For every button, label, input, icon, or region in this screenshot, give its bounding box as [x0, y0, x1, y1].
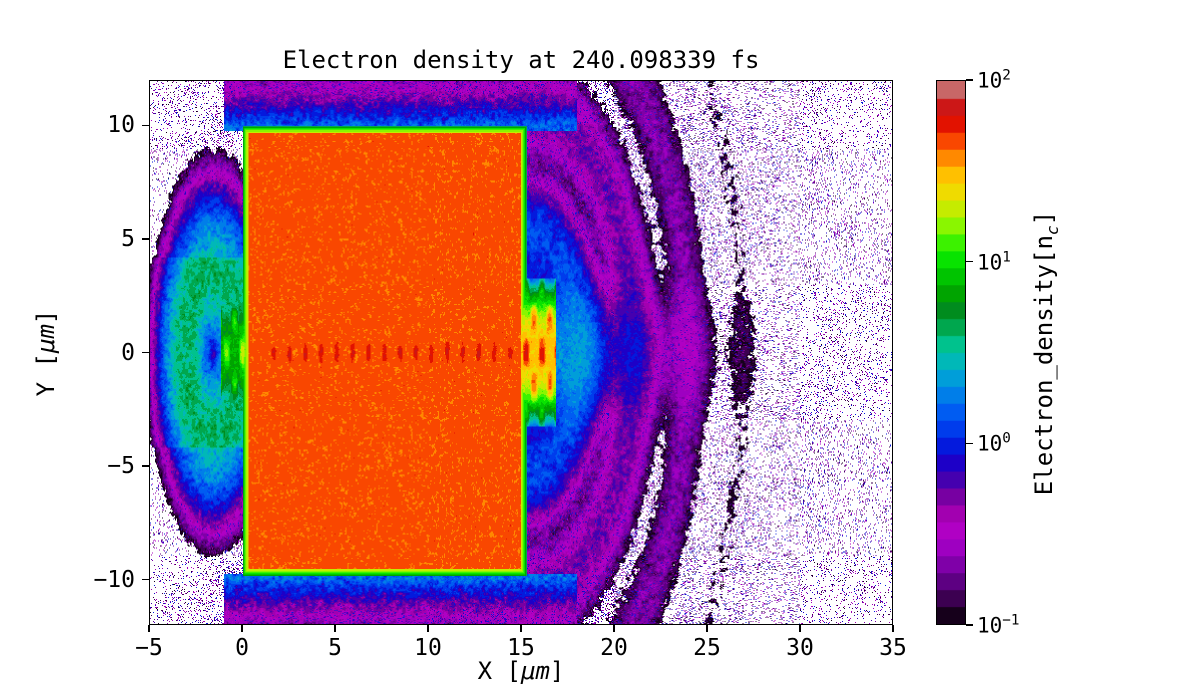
x-tick-mark [241, 625, 243, 632]
y-tick-label: −5 [89, 453, 135, 479]
y-axis-unit: μm [32, 324, 60, 353]
x-tick-mark [706, 625, 708, 632]
x-axis-unit: μm [521, 657, 550, 685]
figure-root: Electron density at 240.098339 fs −50510… [0, 0, 1200, 700]
colorbar-label-tail: ] [1030, 210, 1058, 224]
y-tick-mark [142, 579, 149, 581]
y-tick-mark [142, 125, 149, 127]
x-tick-mark [799, 625, 801, 632]
x-tick-mark [892, 625, 894, 632]
y-tick-label: 10 [89, 112, 135, 138]
y-tick-mark [142, 465, 149, 467]
colorbar-tick-mark [966, 624, 973, 626]
colorbar-tick-label: 101 [977, 249, 1011, 274]
colorbar-label: Electron_density[nc] [1030, 210, 1062, 494]
y-axis-label-prefix: Y [ [32, 353, 60, 396]
colorbar-tick-label: 100 [977, 431, 1011, 456]
y-axis-label-suffix: ] [32, 309, 60, 323]
colorbar-label-text: Electron_density[n [1030, 235, 1058, 495]
x-tick-mark [613, 625, 615, 632]
y-axis-label: Y [μm] [32, 309, 60, 396]
colorbar-tick-mark [966, 79, 973, 81]
y-tick-label: 0 [89, 340, 135, 366]
colorbar [936, 80, 966, 625]
y-tick-label: −10 [89, 567, 135, 593]
x-axis-label: X [μm] [149, 657, 893, 685]
colorbar-tick-label: 10−1 [977, 613, 1019, 638]
y-tick-mark [142, 352, 149, 354]
colorbar-label-subscript: c [1043, 225, 1062, 235]
heatmap-canvas [150, 81, 892, 624]
colorbar-tick-label: 102 [977, 68, 1011, 93]
y-tick-mark [142, 238, 149, 240]
plot-title: Electron density at 240.098339 fs [149, 46, 893, 74]
colorbar-tick-mark [966, 443, 973, 445]
x-tick-mark [427, 625, 429, 632]
y-tick-label: 5 [89, 226, 135, 252]
x-tick-mark [520, 625, 522, 632]
heatmap-axes [149, 80, 893, 625]
x-tick-mark [148, 625, 150, 632]
colorbar-tick-mark [966, 261, 973, 263]
colorbar-canvas [937, 81, 965, 624]
x-tick-mark [334, 625, 336, 632]
x-axis-label-prefix: X [ [478, 657, 521, 685]
x-axis-label-suffix: ] [550, 657, 564, 685]
